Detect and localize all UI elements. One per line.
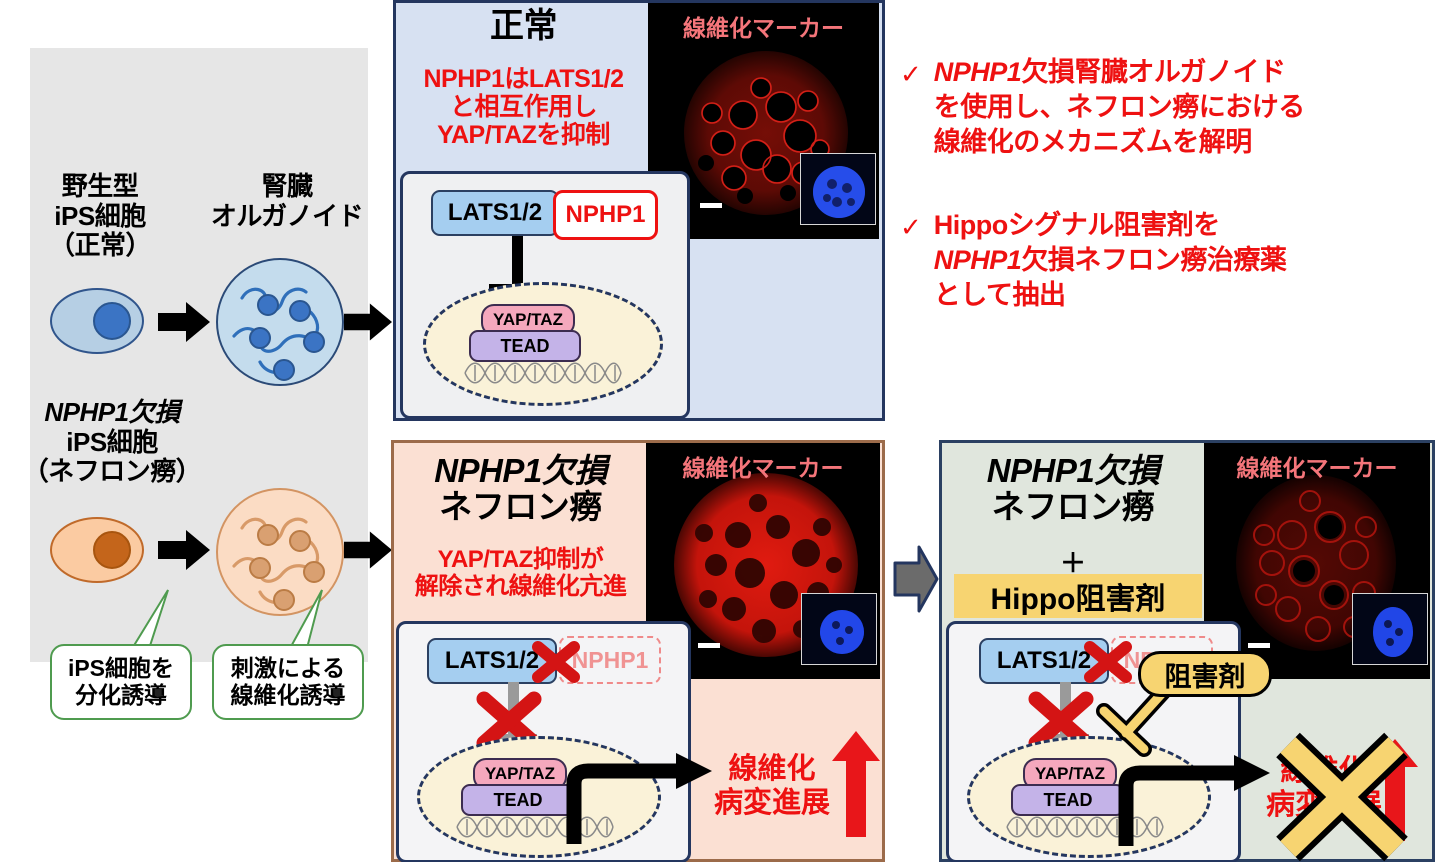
output-arrow-nphp1 xyxy=(564,739,724,849)
micrograph-normal-label: 線維化マーカー xyxy=(648,9,879,43)
nphp1-ips-line-1: NPHP1欠損 xyxy=(22,398,202,428)
inhibitor-pill: 阻害剤 xyxy=(1138,651,1272,697)
micrograph-treated-dapi-inset xyxy=(1352,593,1428,665)
lats-node-normal: LATS1/2 xyxy=(431,190,559,236)
micrograph-normal-dapi-inset xyxy=(800,153,876,225)
bullet-item: ✓ NPHP1欠損腎臓オルガノイド を使用し、ネフロン癆における 線維化のメカニ… xyxy=(900,55,1430,160)
tead-node-treated: TEAD xyxy=(1011,784,1125,816)
nphp1-ips-line-2: iPS細胞 xyxy=(22,428,202,458)
bullet-line-3: 線維化のメカニズムを解明 xyxy=(934,125,1305,160)
panel-nphp1-subtitle: YAP/TAZ抑制が 解除され線維化亢進 xyxy=(394,547,647,601)
callout-line-1: iPS細胞を xyxy=(68,655,174,682)
cell-nucleus xyxy=(93,302,131,340)
callout-line-1: 刺激による xyxy=(231,655,346,682)
outcome-nphp1: 線維化 病変進展 xyxy=(712,753,832,820)
wild-type-line-2: iPS細胞 xyxy=(35,202,165,232)
tead-node-nphp1: TEAD xyxy=(461,784,575,816)
arrow-nphp1-to-treated xyxy=(893,543,939,615)
bullet-text: NPHP1欠損腎臓オルガノイド を使用し、ネフロン癆における 線維化のメカニズム… xyxy=(934,55,1305,160)
bullet-line-3: として抽出 xyxy=(934,278,1287,313)
nphp1-node-normal: NPHP1 xyxy=(553,190,658,240)
wild-type-organoid xyxy=(216,258,344,386)
arrow-organoid-to-normal-panel xyxy=(344,300,392,344)
panel-normal: 正常 NPHP1はLATS1/2 と相互作用し YAP/TAZを抑制 xyxy=(393,0,885,421)
nphp1-ips-label: NPHP1欠損 iPS細胞 （ネフロン癆） xyxy=(22,398,202,487)
title-line-1: NPHP1欠損 xyxy=(942,453,1204,489)
subtitle-line-3: YAP/TAZを抑制 xyxy=(396,121,651,149)
cell-nucleus xyxy=(93,531,131,569)
micrograph-nphp1-dapi-inset xyxy=(801,593,877,665)
figure-canvas: 野生型 iPS細胞 （正常） 腎臓 オルガノイド xyxy=(0,0,1440,862)
organoid-line-2: オルガノイド xyxy=(192,202,382,232)
subtitle-line-1: YAP/TAZ抑制が xyxy=(394,547,647,574)
wild-type-line-1: 野生型 xyxy=(35,172,165,202)
outcome-line-1: 線維化 xyxy=(712,753,832,787)
organoid-tubules xyxy=(216,258,344,386)
subtitle-line-2: と相互作用し xyxy=(396,93,651,121)
red-up-arrow-nphp1 xyxy=(832,731,880,837)
micrograph-nphp1-label: 線維化マーカー xyxy=(646,449,880,483)
callout-fibrosis-induction: 刺激による 線維化誘導 xyxy=(212,644,364,720)
dna-helix-normal xyxy=(465,360,621,386)
title-line-2: ネフロン癆 xyxy=(942,489,1204,525)
yellow-cross-out-outcome xyxy=(1268,729,1416,862)
panel-nphp1-title: NPHP1欠損 ネフロン癆 xyxy=(394,453,647,524)
nphp1-ips-line-3: （ネフロン癆） xyxy=(22,457,202,487)
title-line-2: ネフロン癆 xyxy=(394,489,647,525)
scale-bar xyxy=(700,203,722,208)
nphp1-cell xyxy=(50,517,144,583)
organoid-line-1: 腎臓 xyxy=(192,172,382,202)
bullet-italic-gene: NPHP1 xyxy=(934,245,1022,275)
callout-differentiation: iPS細胞を 分化誘導 xyxy=(50,644,192,720)
callout-line-2: 分化誘導 xyxy=(68,682,174,709)
title-line-1: NPHP1欠損 xyxy=(394,453,647,489)
panel-treated: NPHP1欠損 ネフロン癆 ＋ Hippo阻害剤 xyxy=(939,440,1435,862)
subtitle-line-2: 解除され線維化亢進 xyxy=(394,574,647,601)
panel-nphp1-deficient: NPHP1欠損 ネフロン癆 YAP/TAZ抑制が 解除され線維化亢進 xyxy=(391,440,885,862)
check-icon: ✓ xyxy=(900,214,922,240)
bullet-italic-gene: NPHP1 xyxy=(934,57,1022,87)
summary-bullets: ✓ NPHP1欠損腎臓オルガノイド を使用し、ネフロン癆における 線維化のメカニ… xyxy=(900,55,1430,348)
wild-type-label: 野生型 iPS細胞 （正常） xyxy=(35,172,165,261)
tead-node-normal: TEAD xyxy=(469,330,581,362)
scale-bar xyxy=(698,643,720,648)
arrow-wildtype-to-organoid xyxy=(158,300,210,344)
mechanism-box-normal: LATS1/2 NPHP1 YAP/TAZ TEAD xyxy=(400,171,690,419)
bullet-item: ✓ Hippoシグナル阻害剤を NPHP1欠損ネフロン癆治療薬 として抽出 xyxy=(900,208,1430,313)
bullet-text: Hippoシグナル阻害剤を NPHP1欠損ネフロン癆治療薬 として抽出 xyxy=(934,208,1287,313)
bullet-line-1-rest: 欠損腎臓オルガノイド xyxy=(1021,57,1285,87)
micrograph-treated-label: 線維化マーカー xyxy=(1204,449,1430,483)
check-icon: ✓ xyxy=(900,61,922,87)
arrow-nphp1cell-to-organoid xyxy=(158,528,210,572)
subtitle-line-1: NPHP1はLATS1/2 xyxy=(396,65,651,93)
bullet-line-1: Hippoシグナル阻害剤を xyxy=(934,208,1287,243)
bullet-line-2-rest: 欠損ネフロン癆治療薬 xyxy=(1021,245,1286,275)
scale-bar xyxy=(1248,643,1270,648)
arrow-organoid-to-nphp1-panel xyxy=(344,528,392,572)
organoid-label: 腎臓 オルガノイド xyxy=(192,172,382,231)
wild-type-line-3: （正常） xyxy=(35,231,165,261)
panel-normal-title: 正常 xyxy=(396,8,651,45)
red-x-interaction-blocked xyxy=(529,638,583,686)
panel-normal-subtitle: NPHP1はLATS1/2 と相互作用し YAP/TAZを抑制 xyxy=(396,65,651,149)
wild-type-cell xyxy=(50,288,144,354)
outcome-line-2: 病変進展 xyxy=(712,787,832,821)
panel-treated-title: NPHP1欠損 ネフロン癆 xyxy=(942,453,1204,524)
hippo-inhibitor-banner: Hippo阻害剤 xyxy=(954,574,1202,618)
bullet-line-2: を使用し、ネフロン癆における xyxy=(934,90,1305,125)
callout-line-2: 線維化誘導 xyxy=(231,682,346,709)
